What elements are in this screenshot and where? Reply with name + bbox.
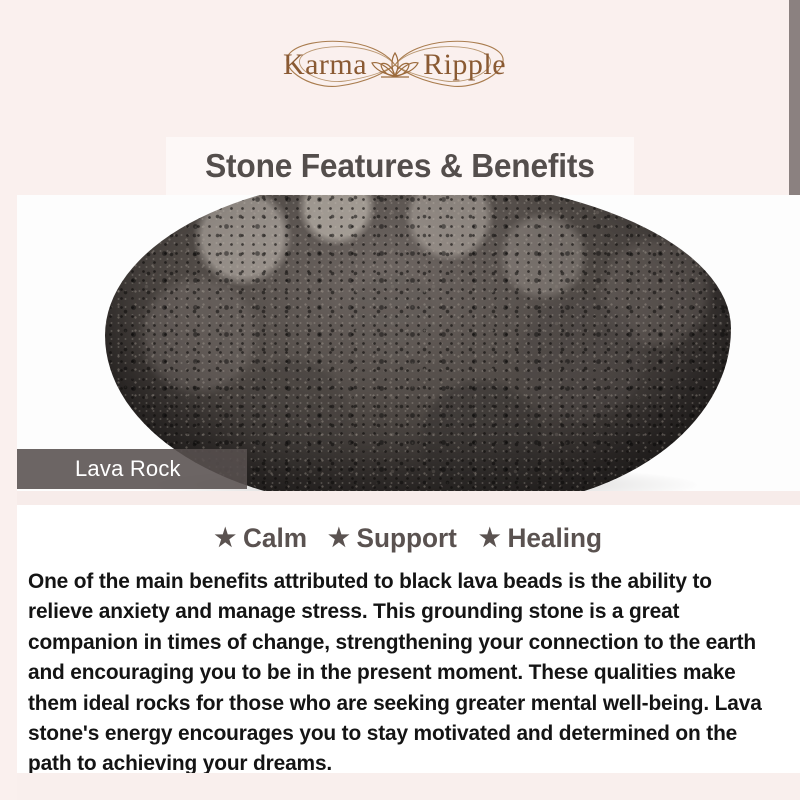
photo-caption-label: Lava Rock <box>17 456 181 482</box>
brand-name-left: Karma <box>283 48 367 82</box>
photo-separator <box>17 491 800 505</box>
photo-backdrop <box>17 195 800 491</box>
stone-photo <box>17 195 800 491</box>
lava-rock-photo <box>105 195 731 491</box>
photo-caption-chip: Lava Rock <box>17 449 247 489</box>
star-icon: ★ <box>479 526 501 551</box>
content-card: ★ Calm ★ Support ★ Healing One of the ma… <box>17 505 800 773</box>
star-icon: ★ <box>214 526 236 551</box>
title-banner: Stone Features & Benefits <box>166 137 634 195</box>
feature-item-calm: ★ Calm <box>214 523 307 554</box>
feature-item-support: ★ Support <box>328 523 457 554</box>
description-paragraph: One of the main benefits attributed to b… <box>28 567 777 780</box>
rock-pore-texture-coarse <box>105 195 731 491</box>
brand-name-right: Ripple <box>423 48 506 82</box>
feature-list: ★ Calm ★ Support ★ Healing <box>17 519 800 557</box>
feature-label-healing: Healing <box>508 523 603 554</box>
star-icon: ★ <box>328 526 350 551</box>
bottom-strip <box>17 773 800 800</box>
page-title: Stone Features & Benefits <box>205 147 595 185</box>
brand-header: Karma Ripple <box>0 0 789 130</box>
brand-logo[interactable]: Karma Ripple <box>235 34 555 96</box>
feature-label-support: Support <box>357 523 457 554</box>
feature-item-healing: ★ Healing <box>479 523 602 554</box>
stone-benefits-infographic: Karma Ripple Stone Features & Benefits L… <box>0 0 800 800</box>
feature-label-calm: Calm <box>243 523 307 554</box>
